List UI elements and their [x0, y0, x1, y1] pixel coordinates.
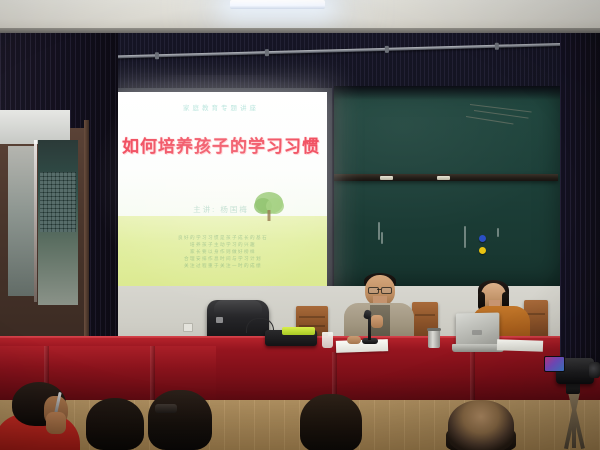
tripod-leg [572, 392, 576, 448]
chair-slat [415, 314, 435, 316]
right-curtain [560, 33, 600, 373]
curtain-clip [385, 46, 389, 53]
blackboard [334, 86, 562, 286]
camera-lens [589, 362, 600, 378]
chalk-mark [464, 226, 466, 248]
audience-dark-hair-3 [300, 394, 362, 450]
chair-slat [527, 313, 545, 315]
microphone-stem [368, 316, 371, 340]
audience-hand [46, 412, 66, 434]
curtain-clip [495, 43, 499, 50]
bag-logo [216, 317, 223, 323]
door-frame-highlight [34, 140, 37, 302]
slide-speaker-line: 主讲: 杨国梅 [115, 204, 327, 215]
hair-clip [155, 404, 177, 413]
bag-flap [214, 300, 262, 314]
metal-cup-lid [427, 328, 441, 331]
chalk-mark [381, 232, 383, 244]
audience-balding [448, 400, 514, 450]
slide-body-line: 家长要以身作则做好榜样 [143, 248, 303, 255]
speaker-hand-on-papers [347, 336, 361, 344]
audience-dark-hair-2 [148, 390, 212, 450]
power-outlet [183, 323, 193, 332]
projector-lid [282, 327, 315, 335]
blackboard-shadow [334, 86, 562, 100]
door-glass-panel [8, 146, 34, 296]
paper-cup [322, 332, 333, 348]
slide-body-line: 良好的学习习惯是孩子成长的基石 [143, 234, 303, 241]
blue-magnet [479, 235, 486, 242]
camera-lcd-screen [544, 356, 565, 372]
slide-body-line: 关注过程重于关注一时的成绩 [143, 262, 303, 269]
cloth-fold [150, 346, 155, 400]
slide-body-line: 合理安排作息时间与学习计划 [143, 255, 303, 262]
chalk-mark [497, 228, 499, 237]
curtain-clip [265, 49, 269, 56]
cloth-fold [470, 352, 475, 400]
chair-slat [299, 316, 325, 318]
projection-screen: 家庭教育专题讲座 如何培养孩子的学习习惯 主讲: 杨国梅 良好的学习习惯是孩子成… [115, 92, 327, 292]
lecture-hall-photo: 家庭教育专题讲座 如何培养孩子的学习习惯 主讲: 杨国梅 良好的学习习惯是孩子成… [0, 0, 600, 450]
ceiling-light [230, 0, 325, 9]
upper-window [0, 110, 70, 144]
slide-body-lines: 良好的学习习惯是孩子成长的基石 培养孩子主动学习的兴趣 家长要以身作则做好榜样 … [143, 234, 303, 269]
speaker-glasses [381, 287, 392, 294]
laptop-logo [472, 330, 482, 335]
chalk-piece [437, 176, 450, 180]
cloth-fold [332, 352, 337, 400]
slide-body-line: 培养孩子主动学习的兴趣 [143, 241, 303, 248]
slide-header-text: 家庭教育专题讲座 [115, 102, 327, 112]
chalk-mark [378, 222, 380, 240]
yellow-magnet [479, 247, 486, 254]
exterior-tiled-wall [40, 172, 76, 232]
speaker-glasses-bridge [377, 289, 381, 290]
curtain-clip [155, 52, 159, 59]
slide-title: 如何培养孩子的学习习惯 [115, 132, 327, 157]
chalk-piece [380, 176, 393, 180]
audience-dark-hair-1 [86, 398, 144, 450]
documents [497, 339, 543, 352]
speaker-hand [371, 315, 383, 328]
door-frame [84, 120, 89, 355]
metal-cup [428, 330, 440, 348]
